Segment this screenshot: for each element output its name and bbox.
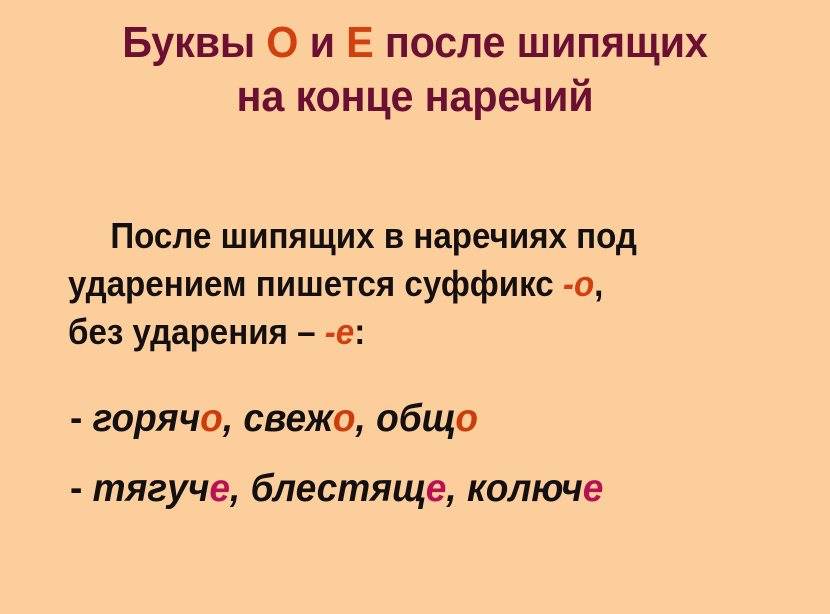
example-separator: , bbox=[446, 467, 467, 510]
rule-line-1: После шипящих в наречиях под bbox=[68, 212, 712, 260]
rule-line-3-punct: : bbox=[354, 311, 365, 352]
example-separator: , bbox=[356, 397, 377, 440]
title-line-1: Буквы О и Е после шипящих bbox=[25, 16, 805, 70]
example-ending-e: е bbox=[583, 467, 604, 510]
example-word-stem: свеж bbox=[243, 397, 332, 440]
example-word-stem: блестящ bbox=[251, 467, 426, 510]
suffix-o-highlight: -о bbox=[563, 263, 594, 304]
example-ending-e: е bbox=[209, 467, 230, 510]
title-text-part-2: и bbox=[298, 18, 346, 67]
rule-line-2-punct: , bbox=[594, 263, 603, 304]
example-word-stem: колюч bbox=[467, 467, 583, 510]
rule-paragraph: После шипящих в наречиях под ударением п… bbox=[68, 212, 712, 356]
example-word-stem: общ bbox=[376, 397, 455, 440]
example-ending-o: о bbox=[200, 397, 223, 440]
example-line-e: - тягуче, блестяще, колюче bbox=[70, 454, 773, 524]
example-separator: , bbox=[230, 467, 251, 510]
title-text-part-3: после шипящих bbox=[374, 18, 708, 67]
example-ending-e: е bbox=[426, 467, 447, 510]
rule-line-2-text: ударением пишется суффикс bbox=[68, 263, 563, 304]
example-dash-o: - bbox=[70, 397, 93, 440]
example-word-stem: горяч bbox=[93, 397, 201, 440]
title-accent-letter-o: О bbox=[266, 18, 298, 67]
rule-line-3-text: без ударения – bbox=[68, 311, 325, 352]
slide-root: Буквы О и Е после шипящих на конце нареч… bbox=[0, 0, 830, 614]
title-accent-letter-e: Е bbox=[346, 18, 373, 67]
suffix-e-highlight: -е bbox=[325, 311, 354, 352]
title-line-2: на конце наречий bbox=[25, 70, 805, 124]
example-ending-o: о bbox=[455, 397, 478, 440]
rule-line-2: ударением пишется суффикс -о, bbox=[68, 260, 712, 308]
example-word-stem: тягуч bbox=[93, 467, 210, 510]
example-ending-o: о bbox=[333, 397, 356, 440]
example-line-o: - горячо, свежо, общо bbox=[70, 384, 773, 454]
example-dash-e: - bbox=[70, 467, 93, 510]
title-text-part-1: Буквы bbox=[122, 18, 266, 67]
page-title: Буквы О и Е после шипящих на конце нареч… bbox=[25, 16, 805, 124]
examples-list: - горячо, свежо, общо - тягуче, блестяще… bbox=[70, 384, 773, 524]
rule-line-3: без ударения – -е: bbox=[68, 308, 712, 356]
example-separator: , bbox=[223, 397, 244, 440]
